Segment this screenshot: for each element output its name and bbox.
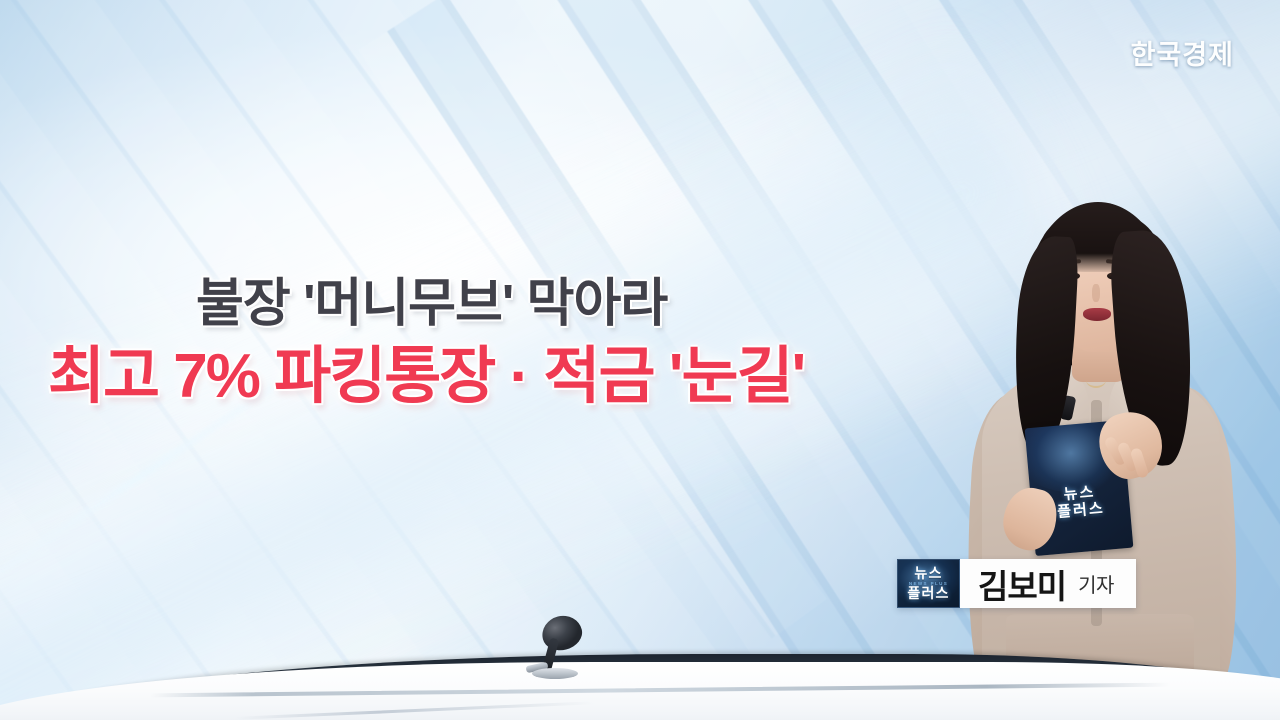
reporter-name: 김보미 [978, 560, 1066, 608]
folder-logo-line2: 플러스 [1057, 501, 1106, 520]
program-logo-line2: 플러스 [907, 586, 949, 601]
headline-line-1: 불장 '머니무브' 막아라 [0, 276, 960, 332]
program-logo-line1: 뉴스 [914, 566, 942, 581]
headline-overlay: 불장 '머니무브' 막아라 최고 7% 파킹통장 · 적금 '눈길' [0, 276, 960, 409]
anchor-mouth [1083, 308, 1111, 321]
channel-logo: 한국경제 [1131, 33, 1234, 72]
headline-line-2: 최고 7% 파킹통장 · 적금 '눈길' [0, 344, 960, 409]
reporter-name-plate: 김보미 기자 [960, 559, 1136, 608]
broadcast-screen: 뉴스 플러스 한국경제 불장 '머니무브' 막아라 최고 7% 파킹통장 · 적… [0, 0, 1280, 720]
program-logo-badge: 뉴스 NEWS PLUS 플러스 [897, 559, 960, 608]
anchor-necklace [1086, 372, 1106, 388]
anchor-nose [1092, 284, 1100, 302]
folder-logo-line1: 뉴스 [1063, 485, 1096, 503]
reporter-role: 기자 [1078, 569, 1114, 598]
desk-microphone-icon [524, 616, 588, 684]
news-desk [0, 600, 1280, 720]
microphone-head [538, 612, 585, 655]
lower-third: 뉴스 NEWS PLUS 플러스 김보미 기자 [897, 559, 1136, 608]
microphone-base [532, 668, 578, 679]
